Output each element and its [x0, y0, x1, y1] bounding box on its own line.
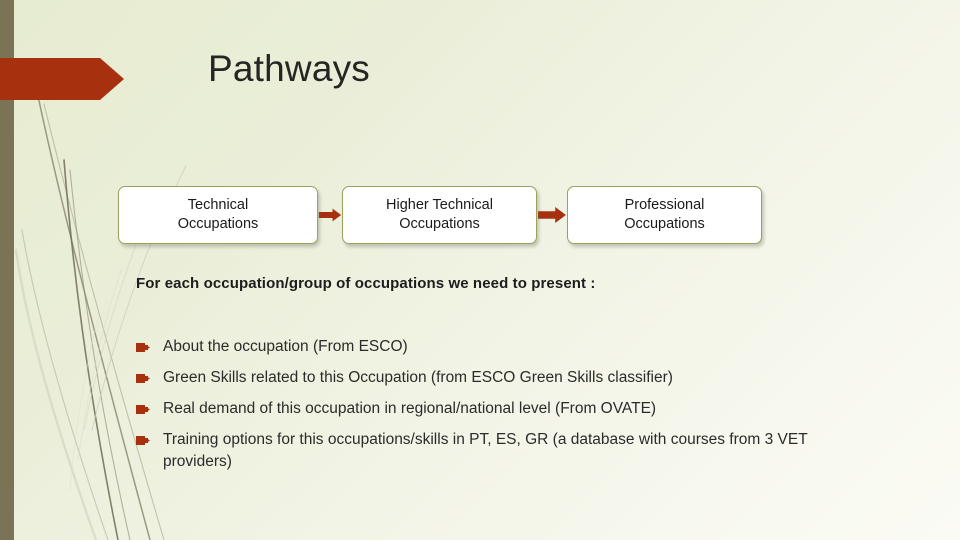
red-pennant-bullet-icon — [136, 398, 163, 415]
flow-box-line1: Technical — [188, 197, 248, 213]
body-bullet-list: About the occupation (From ESCO) Green S… — [136, 336, 866, 482]
list-item: About the occupation (From ESCO) — [136, 336, 866, 358]
presentation-slide: Pathways Technical Occupations Higher Te… — [0, 0, 960, 540]
flow-box-line2: Occupations — [399, 216, 480, 232]
list-item-text: Training options for this occupations/sk… — [163, 429, 866, 473]
flow-box-line1: Higher Technical — [386, 197, 493, 213]
list-item-text: Real demand of this occupation in region… — [163, 398, 866, 420]
red-pennant-bullet-icon — [136, 367, 163, 384]
flow-arrow-1 — [318, 198, 342, 232]
list-item: Real demand of this occupation in region… — [136, 398, 866, 420]
pathway-flow-diagram: Technical Occupations Higher Technical O… — [118, 185, 894, 245]
flow-box-line2: Occupations — [624, 216, 705, 232]
red-pennant-bullet-icon — [136, 429, 163, 446]
title-banner-arrow-icon — [0, 58, 124, 100]
flow-box-line1: Professional — [625, 197, 705, 213]
flow-box-professional-occupations[interactable]: Professional Occupations — [567, 186, 762, 244]
list-item-text: Green Skills related to this Occupation … — [163, 367, 866, 389]
slide-title: Pathways — [208, 48, 370, 91]
list-item: Green Skills related to this Occupation … — [136, 367, 866, 389]
list-item: Training options for this occupations/sk… — [136, 429, 866, 473]
flow-box-higher-technical-occupations[interactable]: Higher Technical Occupations — [342, 186, 537, 244]
right-arrow-icon — [537, 198, 567, 232]
flow-arrow-2 — [537, 198, 567, 232]
body-leadin-text: For each occupation/group of occupations… — [136, 275, 595, 292]
flow-box-technical-occupations[interactable]: Technical Occupations — [118, 186, 318, 244]
red-pennant-bullet-icon — [136, 336, 163, 353]
flow-box-line2: Occupations — [178, 216, 259, 232]
right-arrow-icon — [318, 198, 342, 232]
list-item-text: About the occupation (From ESCO) — [163, 336, 866, 358]
